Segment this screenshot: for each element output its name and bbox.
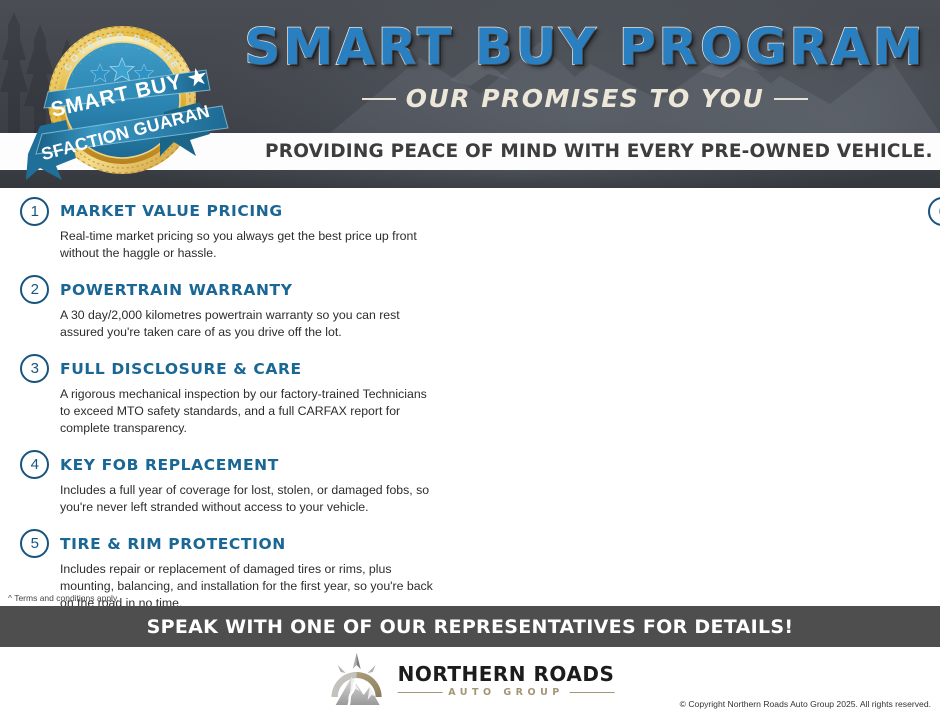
promise-title-2: POWERTRAIN WARRANTY (60, 281, 293, 299)
terms-footnote: ^ Terms and conditions apply. (8, 593, 119, 603)
page-title: SMART BUY PROGRAM (244, 22, 925, 72)
pine-trees-texture-icon (0, 0, 120, 133)
promise-desc-2: A 30 day/2,000 kilometres powertrain war… (60, 307, 436, 341)
brand-rule-left (398, 692, 443, 693)
copyright-text: © Copyright Northern Roads Auto Group 20… (680, 699, 931, 709)
tagline-text: PROVIDING PEACE OF MIND WITH EVERY PRE-O… (265, 141, 933, 162)
promise-number-1: 1 (20, 197, 49, 226)
promise-item-2: 2 POWERTRAIN WARRANTY A 30 day/2,000 kil… (20, 275, 436, 341)
promise-header-2: 2 POWERTRAIN WARRANTY (20, 275, 436, 305)
promise-item-3: 3 FULL DISCLOSURE & CARE A rigorous mech… (20, 354, 436, 437)
page-subtitle: OUR PROMISES TO YOU (406, 84, 765, 113)
page-footer: NORTHERN ROADS AUTO GROUP © Copyright No… (0, 647, 940, 714)
brand-logo: NORTHERN ROADS AUTO GROUP (326, 651, 615, 711)
promise-title-5: TIRE & RIM PROTECTION (60, 535, 286, 553)
smart-buy-program-page: SMART BUY PROGRAM OUR PROMISES TO YOU PR… (0, 0, 940, 722)
brand-tagline: AUTO GROUP (448, 687, 564, 698)
promise-number-5: 5 (20, 529, 49, 558)
brand-tagline-row: AUTO GROUP (398, 687, 615, 698)
tagline-bar: PROVIDING PEACE OF MIND WITH EVERY PRE-O… (0, 133, 940, 170)
brand-name: NORTHERN ROADS (398, 664, 615, 685)
brand-wordmark: NORTHERN ROADS AUTO GROUP (398, 664, 615, 698)
promise-desc-1: Real-time market pricing so you always g… (60, 228, 436, 262)
promise-title-4: KEY FOB REPLACEMENT (60, 456, 279, 474)
cta-bar: SPEAK WITH ONE OF OUR REPRESENTATIVES FO… (0, 606, 940, 647)
promise-header-1: 1 MARKET VALUE PRICING (20, 196, 436, 226)
brand-rule-right (570, 692, 615, 693)
cta-text: SPEAK WITH ONE OF OUR REPRESENTATIVES FO… (147, 616, 794, 638)
promise-desc-5: Includes repair or replacement of damage… (60, 561, 436, 612)
promise-header-4: 4 KEY FOB REPLACEMENT (20, 450, 436, 480)
mountain-compass-logo-icon (326, 651, 388, 711)
promise-title-3: FULL DISCLOSURE & CARE (60, 360, 302, 378)
promises-section: 1 MARKET VALUE PRICING Real-time market … (0, 188, 940, 606)
header-title-block: SMART BUY PROGRAM OUR PROMISES TO YOU (230, 0, 940, 133)
promise-number-3: 3 (20, 354, 49, 383)
promise-header-5: 5 TIRE & RIM PROTECTION (20, 529, 436, 559)
promise-number-2: 2 (20, 275, 49, 304)
promise-desc-3: A rigorous mechanical inspection by our … (60, 386, 436, 437)
subtitle-rule-left (362, 98, 396, 100)
promise-title-1: MARKET VALUE PRICING (60, 202, 283, 220)
promise-item-1: 1 MARKET VALUE PRICING Real-time market … (20, 196, 436, 262)
promise-header-3: 3 FULL DISCLOSURE & CARE (20, 354, 436, 384)
promise-number-6: 6 (928, 197, 940, 226)
header-subtitle-row: OUR PROMISES TO YOU (362, 84, 809, 113)
promise-item-4: 4 KEY FOB REPLACEMENT Includes a full ye… (20, 450, 436, 516)
header-bottom-sliver (0, 170, 940, 188)
promise-number-4: 4 (20, 450, 49, 479)
page-header: SMART BUY PROGRAM OUR PROMISES TO YOU (0, 0, 940, 133)
promise-desc-4: Includes a full year of coverage for los… (60, 482, 436, 516)
subtitle-rule-right (774, 98, 808, 100)
